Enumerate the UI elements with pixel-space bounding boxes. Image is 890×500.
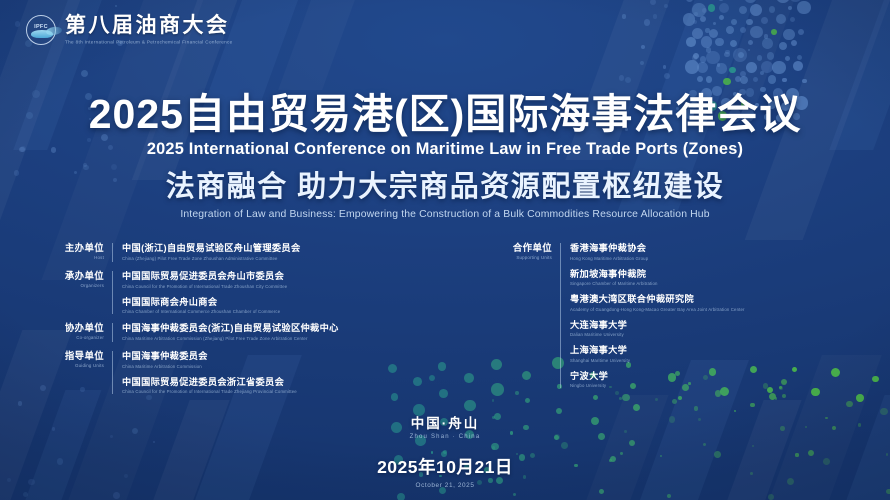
org-name-en: China Council for the Promotion of Inter…: [122, 389, 432, 394]
org-name-cn: 粤港澳大湾区联合仲裁研究院: [570, 294, 868, 305]
org-entry-list: 中国国际贸易促进委员会舟山市委员会China Council for the P…: [122, 271, 432, 314]
org-name-en: Hong Kong Maritime Arbitration Group: [570, 256, 868, 261]
brand-name-cn: 第八届油商大会: [65, 14, 233, 37]
org-entry: 中国国际贸易促进委员会舟山市委员会China Council for the P…: [122, 271, 432, 289]
brand-name-en: The 8th International Petroleum & Petroc…: [65, 40, 233, 45]
page-title: 2025自由贸易港(区)国际海事法律会议: [0, 92, 890, 136]
org-role-label-cn: 主办单位: [52, 243, 104, 254]
brand-text: 第八届油商大会 The 8th International Petroleum …: [65, 14, 233, 45]
org-role-label-cn: 合作单位: [478, 243, 552, 254]
org-name-cn: 中国海事仲裁委员会: [122, 351, 432, 362]
org-role-label-en: Organizers: [52, 283, 104, 288]
page-title-en: 2025 International Conference on Maritim…: [4, 140, 885, 159]
org-name-en: Singapore Chamber of Maritime Arbitratio…: [570, 281, 868, 286]
org-name-en: China (Zhejiang) Pilot Free Trade Zone Z…: [122, 256, 432, 261]
org-name-cn: 中国海事仲裁委员会(浙江)自由贸易试验区仲裁中心: [122, 323, 432, 334]
org-role-label-cn: 承办单位: [52, 271, 104, 282]
org-entry: 粤港澳大湾区联合仲裁研究院Academy of Guangdong-Hong K…: [570, 294, 868, 312]
org-entry-list: 中国海事仲裁委员会(浙江)自由贸易试验区仲裁中心China Maritime A…: [122, 323, 432, 341]
org-entry: 上海海事大学Shanghai Maritime University: [570, 345, 868, 363]
footer-block: 中国·舟山 Zhou Shan · China 2025年10月21日 Octo…: [0, 412, 890, 489]
conference-poster: IPFC 第八届油商大会 The 8th International Petro…: [0, 0, 890, 500]
org-name-cn: 中国国际贸易促进委员会浙江省委员会: [122, 377, 432, 388]
org-role-label-cn: 协办单位: [52, 323, 104, 334]
org-entry: 新加坡海事仲裁院Singapore Chamber of Maritime Ar…: [570, 269, 868, 287]
org-name-en: China Maritime Arbitration Commission (Z…: [122, 336, 432, 341]
org-name-en: Shanghai Maritime University: [570, 358, 868, 363]
org-name-cn: 中国国际商会舟山商会: [122, 297, 432, 308]
org-role-label-en: Host: [52, 255, 104, 260]
org-name-cn: 新加坡海事仲裁院: [570, 269, 868, 280]
event-date-cn: 2025年10月21日: [0, 454, 890, 479]
org-entry: 香港海事仲裁协会Hong Kong Maritime Arbitration G…: [570, 243, 868, 261]
location-en: Zhou Shan · China: [0, 434, 890, 440]
organizations-section: 主办单位Host中国(浙江)自由贸易试验区舟山管理委员会China (Zheji…: [0, 243, 890, 408]
org-entry: 宁波大学Ningbo University: [570, 371, 868, 389]
org-group: 指导单位Guiding Units中国海事仲裁委员会China Maritime…: [52, 351, 432, 394]
title-block: 2025自由贸易港(区)国际海事法律会议 2025 International …: [0, 92, 890, 220]
org-group: 合作单位Supporting Units香港海事仲裁协会Hong Kong Ma…: [478, 243, 868, 388]
org-name-en: Dalian Maritime University: [570, 332, 868, 337]
org-name-cn: 中国国际贸易促进委员会舟山市委员会: [122, 271, 432, 282]
ipfc-circle-wave-logo-icon: IPFC: [26, 15, 56, 45]
org-group: 协办单位Co-organizer中国海事仲裁委员会(浙江)自由贸易试验区仲裁中心…: [52, 323, 432, 342]
org-role-label: 指导单位Guiding Units: [52, 351, 112, 368]
org-name-cn: 大连海事大学: [570, 320, 868, 331]
org-name-en: China Maritime Arbitration Commission: [122, 364, 432, 369]
logo-swoosh-shape: [46, 25, 63, 35]
organizations-left-column: 主办单位Host中国(浙江)自由贸易试验区舟山管理委员会China (Zheji…: [52, 243, 432, 403]
org-name-en: China Chamber of International Commerce …: [122, 309, 432, 314]
org-divider: [112, 323, 113, 342]
organizations-right-column: 合作单位Supporting Units香港海事仲裁协会Hong Kong Ma…: [478, 243, 868, 397]
location-cn: 中国·舟山: [0, 412, 890, 432]
org-entry-list: 中国海事仲裁委员会China Maritime Arbitration Comm…: [122, 351, 432, 394]
org-entry: 大连海事大学Dalian Maritime University: [570, 320, 868, 338]
page-subtitle: 法商融合 助力大宗商品资源配置枢纽建设: [0, 172, 890, 204]
org-role-label-en: Supporting Units: [478, 255, 552, 260]
org-role-label: 合作单位Supporting Units: [478, 243, 560, 260]
page-subtitle-en: Integration of Law and Business: Empower…: [0, 209, 890, 220]
org-name-en: Ningbo University: [570, 383, 868, 388]
logo-abbreviation: IPFC: [34, 24, 48, 30]
event-date-en: October 21, 2025: [0, 482, 890, 489]
org-entry: 中国(浙江)自由贸易试验区舟山管理委员会China (Zhejiang) Pil…: [122, 243, 432, 261]
org-divider: [560, 243, 561, 388]
org-entry: 中国国际贸易促进委员会浙江省委员会China Council for the P…: [122, 377, 432, 395]
org-role-label-cn: 指导单位: [52, 351, 104, 362]
org-name-cn: 中国(浙江)自由贸易试验区舟山管理委员会: [122, 243, 432, 254]
org-entry-list: 香港海事仲裁协会Hong Kong Maritime Arbitration G…: [570, 243, 868, 388]
org-entry: 中国国际商会舟山商会China Chamber of International…: [122, 297, 432, 315]
org-divider: [112, 243, 113, 262]
org-entry: 中国海事仲裁委员会China Maritime Arbitration Comm…: [122, 351, 432, 369]
org-name-en: China Council for the Promotion of Inter…: [122, 284, 432, 289]
org-entry-list: 中国(浙江)自由贸易试验区舟山管理委员会China (Zhejiang) Pil…: [122, 243, 432, 261]
org-name-cn: 上海海事大学: [570, 345, 868, 356]
brand-header: IPFC 第八届油商大会 The 8th International Petro…: [26, 14, 233, 45]
org-role-label: 主办单位Host: [52, 243, 112, 260]
org-divider: [112, 351, 113, 394]
org-group: 主办单位Host中国(浙江)自由贸易试验区舟山管理委员会China (Zheji…: [52, 243, 432, 262]
org-divider: [112, 271, 113, 314]
org-role-label: 承办单位Organizers: [52, 271, 112, 288]
org-group: 承办单位Organizers中国国际贸易促进委员会舟山市委员会China Cou…: [52, 271, 432, 314]
org-entry: 中国海事仲裁委员会(浙江)自由贸易试验区仲裁中心China Maritime A…: [122, 323, 432, 341]
org-name-cn: 宁波大学: [570, 371, 868, 382]
org-name-en: Academy of Guangdong-Hong Kong-Macao Gre…: [570, 307, 868, 312]
org-role-label-en: Co-organizer: [52, 335, 104, 340]
org-role-label: 协办单位Co-organizer: [52, 323, 112, 340]
org-role-label-en: Guiding Units: [52, 363, 104, 368]
org-name-cn: 香港海事仲裁协会: [570, 243, 868, 254]
